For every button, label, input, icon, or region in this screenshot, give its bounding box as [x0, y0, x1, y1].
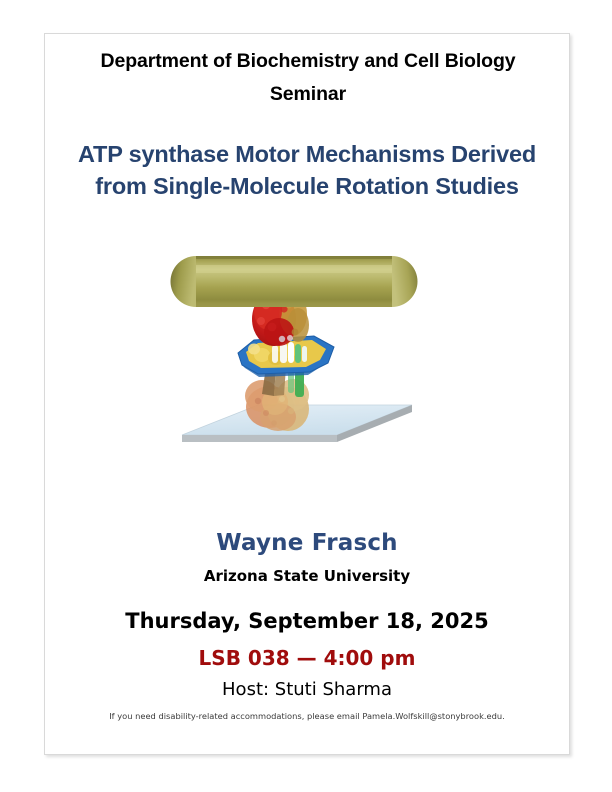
department-header-line-2: Seminar — [67, 78, 549, 111]
speaker-affiliation: Arizona State University — [45, 567, 569, 585]
event-host: Host: Stuti Sharma — [45, 679, 569, 700]
speaker-name: Wayne Frasch — [45, 530, 569, 556]
event-location-time: LSB 038 — 4:00 pm — [45, 646, 569, 670]
figure-container — [45, 239, 569, 474]
department-header: Department of Biochemistry and Cell Biol… — [67, 45, 549, 111]
talk-title-line-1: ATP synthase Motor Mechanisms Derived — [45, 138, 569, 170]
poster-page: Department of Biochemistry and Cell Biol… — [44, 33, 570, 755]
gold-nanorod-icon — [171, 256, 418, 307]
event-date: Thursday, September 18, 2025 — [45, 609, 569, 633]
accessibility-note: If you need disability-related accommoda… — [45, 711, 569, 721]
atp-synthase-diagram-image — [162, 239, 452, 474]
department-header-line-1: Department of Biochemistry and Cell Biol… — [67, 45, 549, 78]
talk-title-line-2: from Single-Molecule Rotation Studies — [45, 170, 569, 202]
talk-title: ATP synthase Motor Mechanisms Derived fr… — [45, 138, 569, 202]
